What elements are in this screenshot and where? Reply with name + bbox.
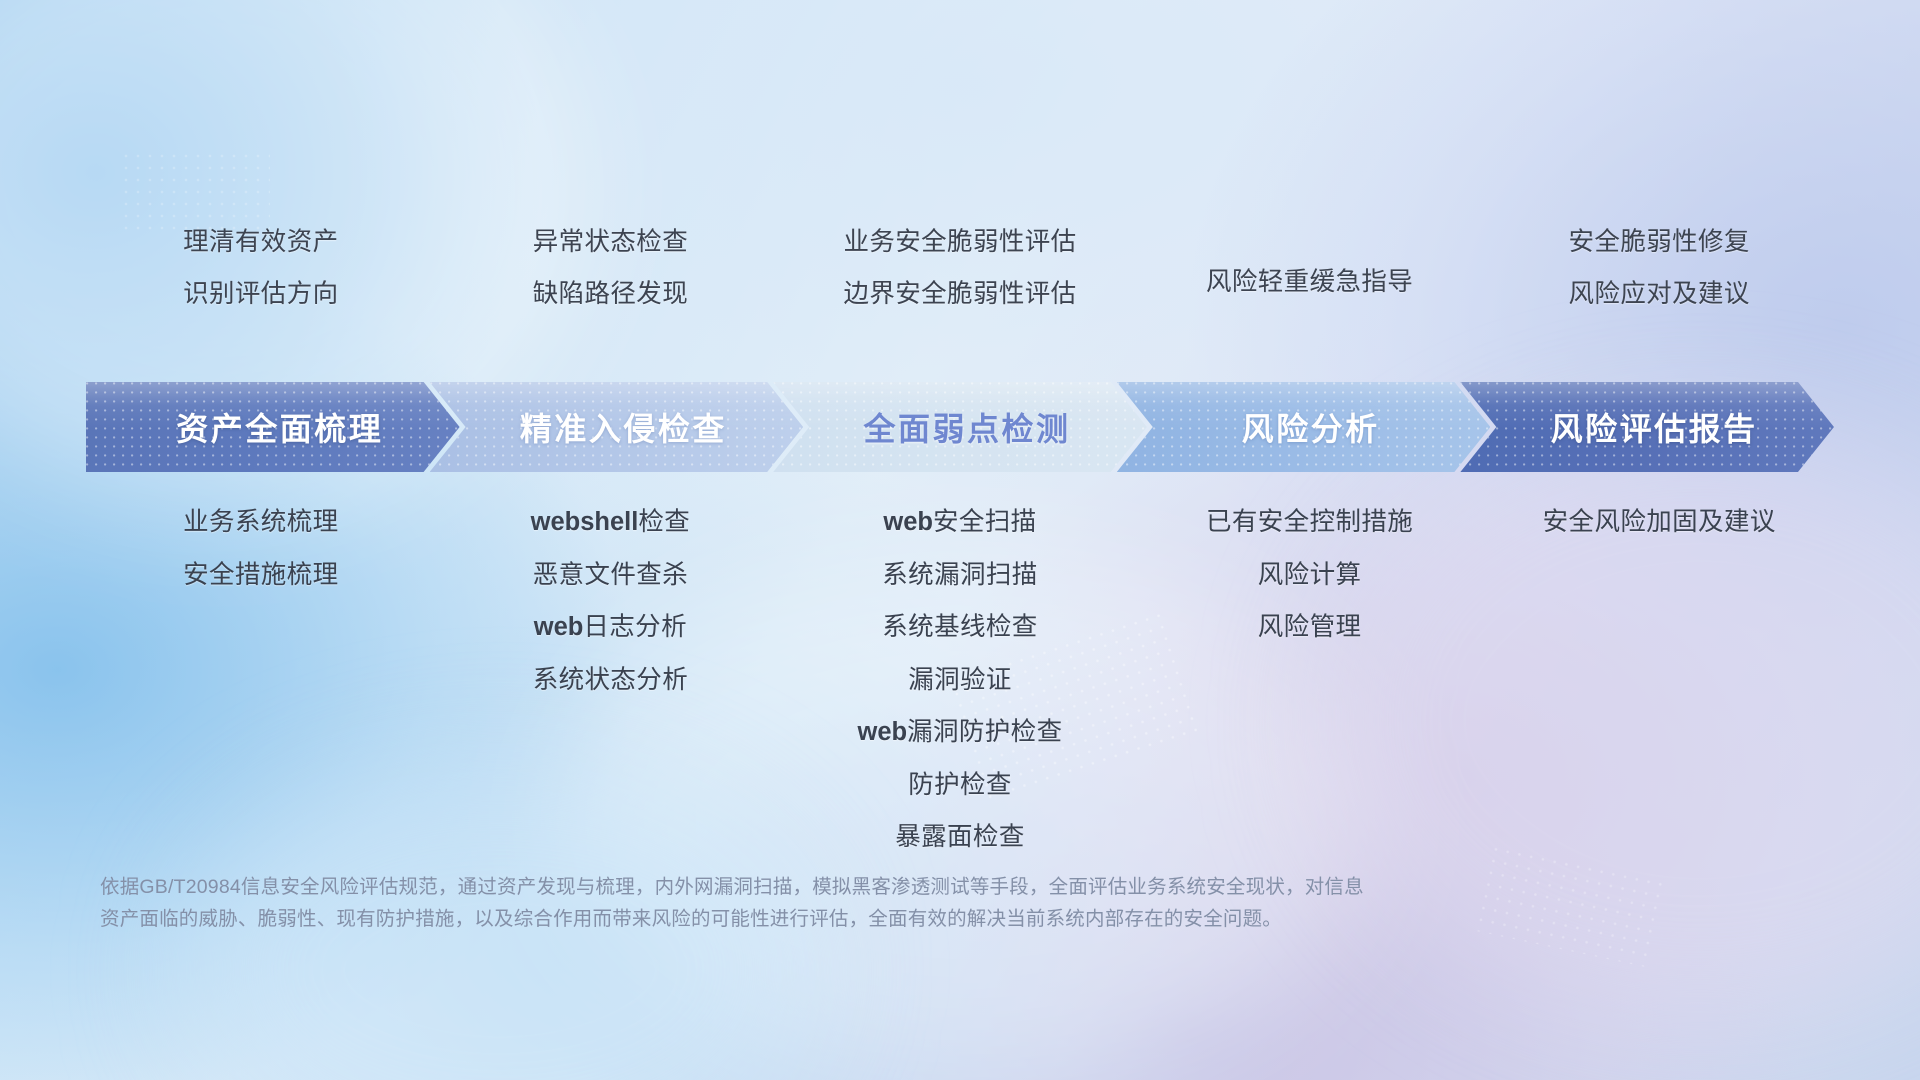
slide-canvas: 理清有效资产 识别评估方向 异常状态检查 缺陷路径发现 业务安全脆弱性评估 边界… [0,0,1920,1080]
activity-item: 系统基线检查 [882,613,1037,642]
outcome-item: 边界安全脆弱性评估 [843,280,1076,309]
outcome-item: 安全脆弱性修复 [1569,228,1750,257]
outcome-item: 业务安全脆弱性评估 [843,228,1076,257]
activity-item: web漏洞防护检查 [857,718,1062,747]
stage-chevron-intrusion[interactable]: 精准入侵检查 [430,382,804,472]
activity-item: 安全措施梳理 [183,561,338,590]
activity-item: webshell检查 [531,508,691,537]
latin-token: web [883,508,933,536]
latin-token: webshell [531,508,639,536]
stage-chevron-weakness[interactable]: 全面弱点检测 [773,382,1147,472]
stage-chevron-asset[interactable]: 资产全面梳理 [86,382,460,472]
outcomes-column-intrusion: 异常状态检查 缺陷路径发现 [436,228,786,308]
activity-item: 风险管理 [1258,613,1362,642]
outcomes-row: 理清有效资产 识别评估方向 异常状态检查 缺陷路径发现 业务安全脆弱性评估 边界… [86,228,1834,308]
outcomes-column-report: 安全脆弱性修复 风险应对及建议 [1484,228,1834,308]
outcomes-column-weakness: 业务安全脆弱性评估 边界安全脆弱性评估 [785,228,1135,308]
activity-item: web日志分析 [534,613,687,642]
outcome-item: 缺陷路径发现 [533,280,688,309]
activity-item: 业务系统梳理 [183,508,338,537]
activity-item: 暴露面检查 [895,823,1025,852]
latin-token: web [857,718,907,746]
stage-label: 风险评估报告 [1460,404,1834,450]
activity-item: 系统状态分析 [533,666,688,695]
activity-item: 漏洞验证 [908,666,1012,695]
activities-column-asset: 业务系统梳理 安全措施梳理 [86,508,436,852]
stage-label: 全面弱点检测 [773,404,1147,450]
stage-chevron-risk-analysis[interactable]: 风险分析 [1117,382,1491,472]
outcomes-column-risk-analysis: 风险轻重缓急指导 [1135,228,1485,308]
stage-chevron-report[interactable]: 风险评估报告 [1460,382,1834,472]
outcome-item: 识别评估方向 [183,280,338,309]
footer-line-1: 依据GB/T20984信息安全风险评估规范，通过资产发现与梳理，内外网漏洞扫描，… [100,872,1630,904]
activities-row: 业务系统梳理 安全措施梳理 webshell检查 恶意文件查杀 web日志分析 … [86,508,1834,852]
process-chevron-band: 资产全面梳理 精准入侵检查 全面弱点检测 风险分析 风险评估报告 [86,382,1834,472]
activities-column-report: 安全风险加固及建议 [1484,508,1834,852]
activities-column-weakness: web安全扫描 系统漏洞扫描 系统基线检查 漏洞验证 web漏洞防护检查 防护检… [785,508,1135,852]
stage-label: 精准入侵检查 [430,404,804,450]
activity-item: 系统漏洞扫描 [882,561,1037,590]
activities-column-risk-analysis: 已有安全控制措施 风险计算 风险管理 [1135,508,1485,852]
outcomes-column-asset: 理清有效资产 识别评估方向 [86,228,436,308]
outcome-item: 理清有效资产 [183,228,338,257]
activities-column-intrusion: webshell检查 恶意文件查杀 web日志分析 系统状态分析 [436,508,786,852]
activity-item: 防护检查 [908,771,1012,800]
activity-item: 恶意文件查杀 [533,561,688,590]
activity-item: web安全扫描 [883,508,1036,537]
activity-item: 安全风险加固及建议 [1543,508,1776,537]
stage-label: 风险分析 [1117,404,1491,450]
latin-token: web [534,613,584,641]
outcome-item: 风险轻重缓急指导 [1206,268,1413,297]
stage-label: 资产全面梳理 [86,404,460,450]
activity-item: 风险计算 [1258,561,1362,590]
footer-line-2: 资产面临的威胁、脆弱性、现有防护措施，以及综合作用而带来风险的可能性进行评估，全… [100,904,1630,936]
outcome-item: 风险应对及建议 [1569,280,1750,309]
outcome-item: 异常状态检查 [533,228,688,257]
footer-description: 依据GB/T20984信息安全风险评估规范，通过资产发现与梳理，内外网漏洞扫描，… [100,872,1630,935]
activity-item: 已有安全控制措施 [1206,508,1413,537]
diagram-content: 理清有效资产 识别评估方向 异常状态检查 缺陷路径发现 业务安全脆弱性评估 边界… [0,0,1920,1080]
